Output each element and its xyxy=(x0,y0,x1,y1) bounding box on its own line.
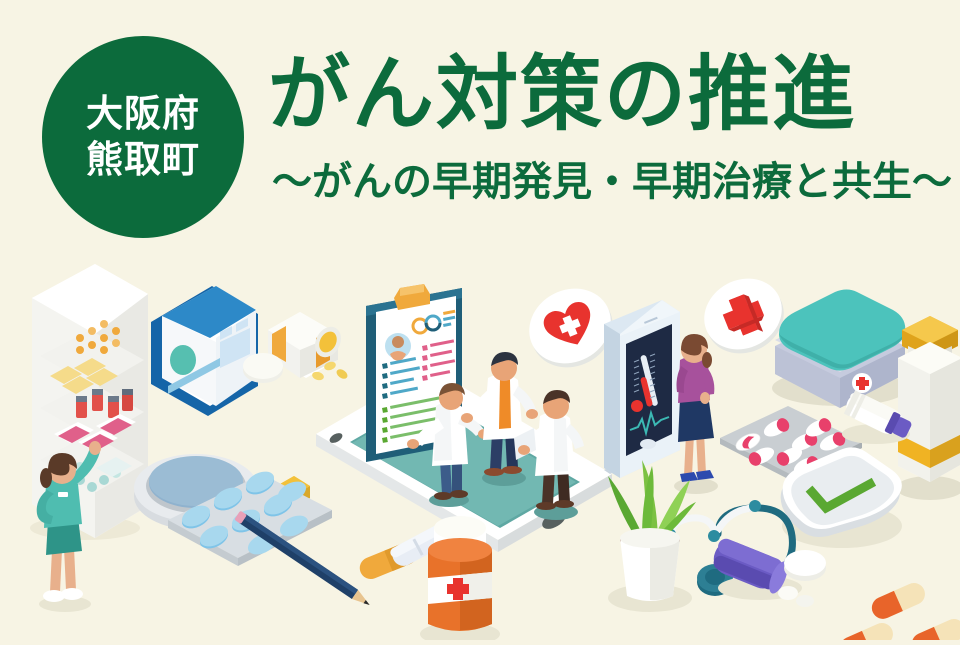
browser-card-window-icon xyxy=(151,286,258,416)
badge-line-town: 熊取町 xyxy=(86,137,200,183)
page-title: がん対策の推進 xyxy=(268,52,856,139)
woman-figure-icon xyxy=(674,334,718,494)
page-subtitle: 〜がんの早期発見・早期治療と共生〜 xyxy=(272,160,952,204)
smartphone-thermometer-icon xyxy=(604,300,680,478)
capsules-orange-icon xyxy=(836,579,960,640)
poster-canvas: 大阪府 熊取町 がん対策の推進 〜がんの早期発見・早期治療と共生〜 xyxy=(0,0,960,640)
illustration-area xyxy=(0,238,960,640)
pill-bottle-open-icon xyxy=(243,312,349,383)
illustration-svg xyxy=(0,238,960,640)
purple-pill-bottle-icon xyxy=(709,536,826,607)
first-aid-kit-icon xyxy=(772,290,908,409)
badge-line-prefecture: 大阪府 xyxy=(86,91,200,137)
medicine-bottle-yellow-icon xyxy=(896,316,960,500)
municipality-badge: 大阪府 熊取町 xyxy=(42,36,244,238)
header-banner: 大阪府 熊取町 がん対策の推進 〜がんの早期発見・早期治療と共生〜 xyxy=(0,0,960,240)
